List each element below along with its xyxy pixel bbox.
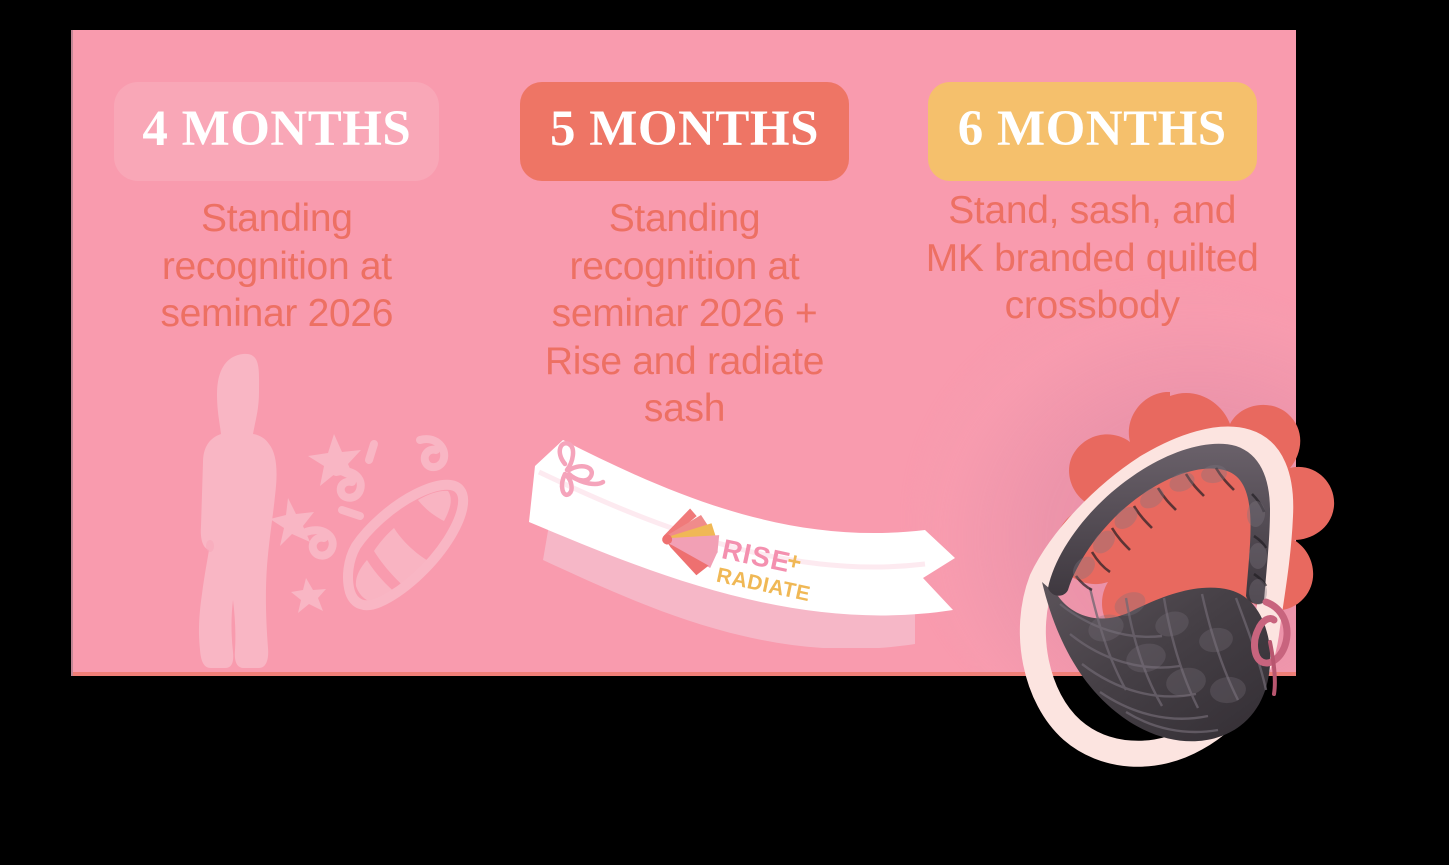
description-4-months: Standing recognition at seminar 2026: [112, 195, 442, 338]
description-6-months: Stand, sash, and MK branded quilted cros…: [920, 187, 1265, 330]
tier-column-6-months: 6 MONTHS Stand, sash, and MK branded qui…: [888, 30, 1296, 330]
description-5-months: Standing recognition at seminar 2026 + R…: [520, 195, 850, 433]
tier-column-4-months: 4 MONTHS Standing recognition at seminar…: [73, 30, 481, 338]
badge-6-months[interactable]: 6 MONTHS: [928, 82, 1257, 181]
poster-canvas: RISE + RADIATE 4 MONTHS Standing recogni…: [0, 0, 1449, 865]
tier-column-5-months: 5 MONTHS Standing recognition at seminar…: [481, 30, 889, 433]
tier-columns: 4 MONTHS Standing recognition at seminar…: [73, 30, 1296, 676]
badge-5-months[interactable]: 5 MONTHS: [520, 82, 849, 181]
badge-4-months[interactable]: 4 MONTHS: [114, 82, 439, 181]
